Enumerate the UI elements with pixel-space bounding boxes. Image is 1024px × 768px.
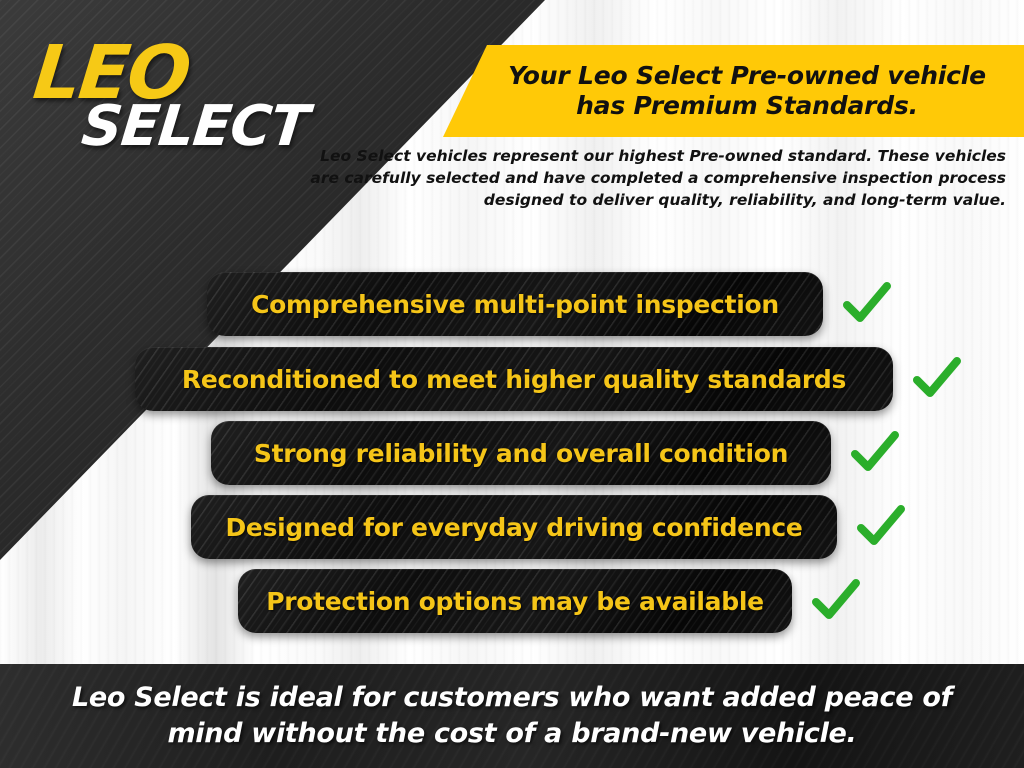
feature-row: Reconditioned to meet higher quality sta… (135, 347, 963, 411)
footer-text: Leo Select is ideal for customers who wa… (47, 680, 977, 752)
feature-row: Strong reliability and overall condition (211, 421, 901, 485)
check-icon (855, 501, 907, 553)
feature-pill: Designed for everyday driving confidence (191, 495, 837, 559)
feature-label: Protection options may be available (266, 587, 764, 616)
check-icon (810, 575, 862, 627)
feature-row: Comprehensive multi-point inspection (207, 272, 893, 336)
feature-pill: Comprehensive multi-point inspection (207, 272, 823, 336)
intro-paragraph: Leo Select vehicles represent our highes… (300, 145, 1006, 211)
check-icon (911, 353, 963, 405)
feature-row: Designed for everyday driving confidence (191, 495, 907, 559)
check-icon (849, 427, 901, 479)
logo-word-select: SELECT (79, 102, 336, 152)
headline-banner: Your Leo Select Pre-owned vehicle has Pr… (430, 45, 1024, 137)
check-icon (841, 278, 893, 330)
feature-label: Reconditioned to meet higher quality sta… (182, 365, 846, 394)
headline-text: Your Leo Select Pre-owned vehicle has Pr… (482, 61, 1012, 122)
feature-row: Protection options may be available (238, 569, 862, 633)
footer-banner: Leo Select is ideal for customers who wa… (0, 664, 1024, 768)
feature-label: Strong reliability and overall condition (254, 439, 788, 468)
leo-select-poster: LEO SELECT Your Leo Select Pre-owned veh… (0, 0, 1024, 768)
feature-pill: Protection options may be available (238, 569, 792, 633)
feature-label: Comprehensive multi-point inspection (251, 290, 779, 319)
feature-label: Designed for everyday driving confidence (225, 513, 802, 542)
feature-pill: Reconditioned to meet higher quality sta… (135, 347, 893, 411)
feature-pill: Strong reliability and overall condition (211, 421, 831, 485)
brand-logo: LEO SELECT (34, 42, 334, 152)
